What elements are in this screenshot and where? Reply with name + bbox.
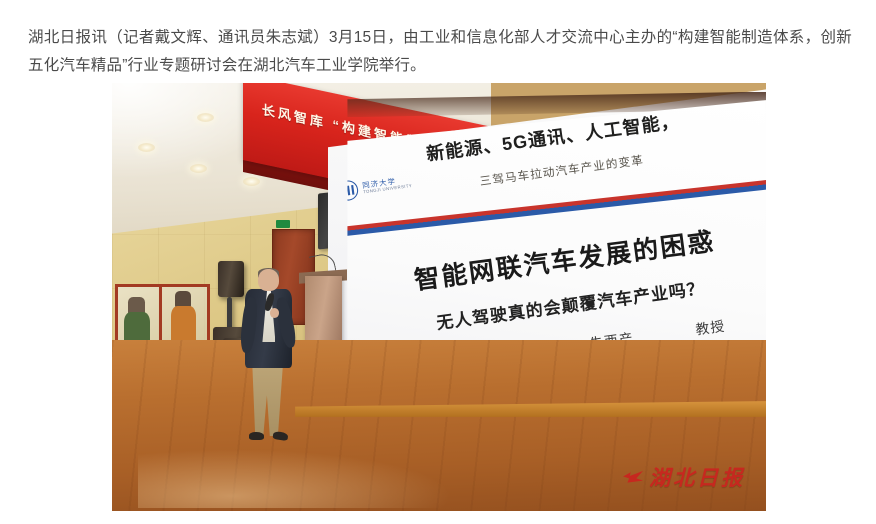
downlight-icon xyxy=(138,143,155,152)
exit-sign-icon xyxy=(276,220,290,228)
hubei-daily-logo-icon xyxy=(623,470,643,484)
pa-speaker-icon xyxy=(218,261,244,297)
attendee-head xyxy=(175,291,191,307)
downlight-icon xyxy=(243,177,260,186)
lead-paragraph: 湖北日报讯（记者戴文辉、通讯员朱志斌）3月15日，由工业和信息化部人才交流中心主… xyxy=(28,24,852,80)
presenter-shoe xyxy=(249,432,264,440)
conference-photo-scene: 长风智库 “构建智能制… xyxy=(112,83,766,511)
tongji-emblem-icon xyxy=(347,179,360,202)
byline-speaker-title: 教授 xyxy=(695,315,727,339)
floor-reflection xyxy=(138,449,452,507)
article-photo[interactable]: 长风智库 “构建智能制… xyxy=(112,83,766,511)
presenter-head xyxy=(258,269,278,291)
watermark: 湖北日报 xyxy=(623,462,745,492)
attendee-body xyxy=(171,306,196,345)
article-container: 湖北日报讯（记者戴文辉、通讯员朱志斌）3月15日，由工业和信息化部人才交流中心主… xyxy=(0,0,876,524)
watermark-text: 湖北日报 xyxy=(649,462,745,492)
downlight-icon xyxy=(197,113,214,122)
